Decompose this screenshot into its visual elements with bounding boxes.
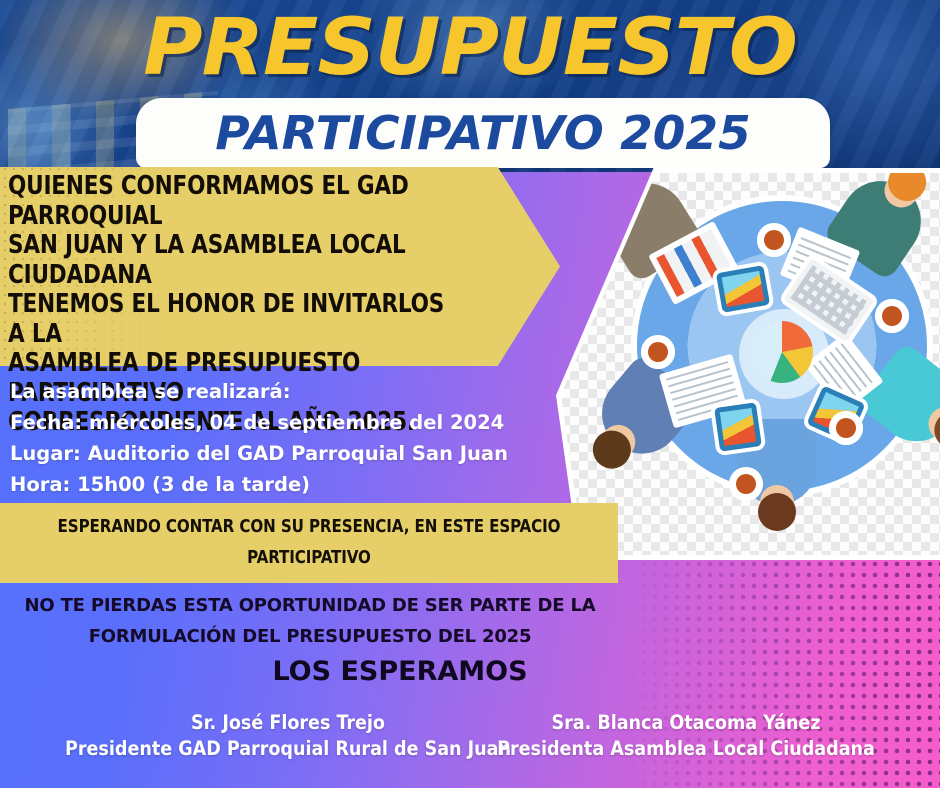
coffee-liquid: [736, 474, 756, 494]
poster-header: PRESUPUESTO PARTICIPATIVO 2025: [0, 0, 940, 172]
coffee-cup-icon: [829, 411, 863, 445]
tablet-screen: [720, 408, 756, 446]
tablet-screen: [722, 271, 765, 307]
coffee-cup-icon: [641, 335, 675, 369]
signature-right-role: Presidenta Asamblea Local Ciudadana: [426, 736, 940, 762]
subtitle-plaque: PARTICIPATIVO 2025: [136, 98, 830, 168]
expectation-line-1: ESPERANDO CONTAR CON SU PRESENCIA, EN ES…: [58, 512, 561, 543]
person-head: [758, 493, 796, 531]
expectation-line-2: PARTICIPATIVO: [247, 543, 371, 574]
tablet-icon-3: [714, 402, 762, 451]
coffee-liquid: [648, 342, 668, 362]
page-subtitle: PARTICIPATIVO 2025: [129, 98, 837, 168]
closing-line: LOS ESPERAMOS: [0, 655, 800, 689]
details-intro: La asamblea se realizará:: [10, 376, 530, 407]
signature-right-name: Sra. Blanca Otacoma Yánez: [426, 710, 940, 736]
pie-chart-icon: [751, 321, 813, 383]
details-date: Fecha: miércoles, 04 de septiembre del 2…: [10, 407, 530, 438]
cta-line-2: FORMULACIÓN DEL PRESUPUESTO DEL 2025: [0, 621, 620, 652]
event-details: La asamblea se realizará: Fecha: miércol…: [10, 376, 530, 500]
round-table-illustration: [579, 173, 940, 549]
signature-right: Sra. Blanca Otacoma Yánez Presidenta Asa…: [426, 710, 940, 762]
coffee-cup-icon: [757, 223, 791, 257]
tablet-icon-1: [716, 265, 770, 313]
coffee-cup-icon: [875, 299, 909, 333]
invitation-line-2: SAN JUAN Y LA ASAMBLEA LOCAL CIUDADANA: [8, 231, 465, 290]
page-title: PRESUPUESTO: [0, 2, 940, 94]
invitation-line-3: TENEMOS EL HONOR DE INVITARLOS A LA: [8, 290, 465, 349]
coffee-cup-icon: [729, 467, 763, 501]
coffee-liquid: [836, 418, 856, 438]
cta-line-1: NO TE PIERDAS ESTA OPORTUNIDAD DE SER PA…: [0, 590, 620, 621]
poster-canvas: PRESUPUESTO PARTICIPATIVO 2025: [0, 0, 940, 788]
invitation-line-1: QUIENES CONFORMAMOS EL GAD PARROQUIAL: [8, 172, 465, 231]
details-time: Hora: 15h00 (3 de la tarde): [10, 469, 530, 500]
expectation-banner-text: ESPERANDO CONTAR CON SU PRESENCIA, EN ES…: [12, 503, 605, 583]
coffee-liquid: [764, 230, 784, 250]
coffee-liquid: [882, 306, 902, 326]
details-place: Lugar: Auditorio del GAD Parroquial San …: [10, 438, 530, 469]
call-to-action: NO TE PIERDAS ESTA OPORTUNIDAD DE SER PA…: [0, 590, 620, 652]
